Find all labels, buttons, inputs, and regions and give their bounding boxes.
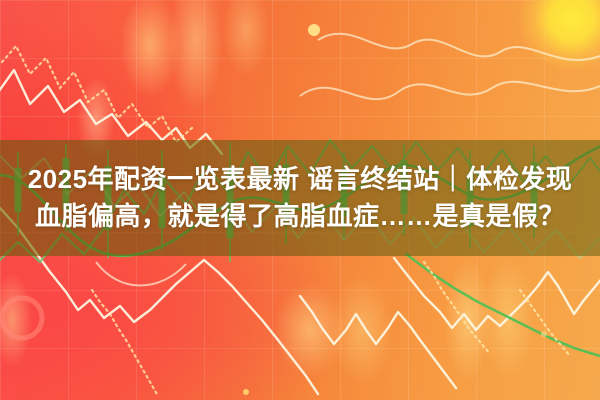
white-soft-curve-upper-right-2 (300, 82, 600, 99)
marker-dot-upper (308, 24, 320, 36)
dotted-series-upper-left (2, 46, 192, 142)
banner-image: 2025年配资一览表最新 谣言终结站｜体检发现 血脂偏高，就是得了高脂血症……是… (0, 0, 600, 400)
marker-dot-lower (243, 389, 249, 395)
headline-line-1: 2025年配资一览表最新 谣言终结站｜体检发现 (28, 164, 573, 195)
dotted-series-lower-right-2 (520, 290, 570, 356)
headline-block: 2025年配资一览表最新 谣言终结站｜体检发现 血脂偏高，就是得了高脂血症……是… (0, 140, 600, 256)
marker-ring-left (2, 298, 42, 338)
white-trend-line-lower-right-2 (300, 296, 456, 388)
headline-line-2: 血脂偏高，就是得了高脂血症……是真是假？ (35, 201, 565, 232)
white-soft-curve-upper-right (318, 34, 600, 60)
green-descending-right (406, 254, 600, 356)
dotted-series-middle (92, 290, 158, 396)
marker-dot-right (541, 331, 547, 337)
white-arc-lower-left (96, 262, 186, 286)
dotted-series-lower-right (424, 262, 490, 354)
